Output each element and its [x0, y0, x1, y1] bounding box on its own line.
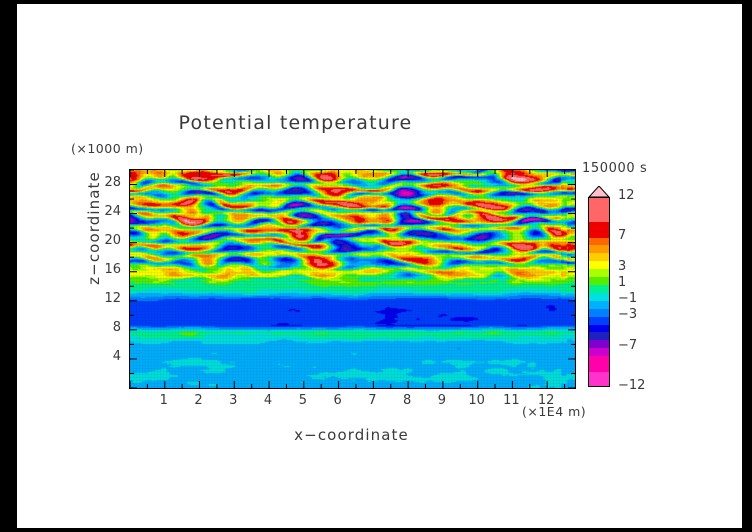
colorbar-tick-label: 1: [618, 275, 626, 290]
y-axis-title: z−coordinate: [85, 148, 103, 308]
plot-area: [129, 169, 576, 389]
colorbar-band: [589, 317, 609, 325]
timestamp-label: 150000 s: [582, 161, 647, 176]
figure-canvas: Potential temperature (×1000 m) 150000 s…: [17, 4, 742, 528]
colorbar-band: [589, 332, 609, 340]
colorbar: 12731−1−3−7−12: [588, 197, 610, 387]
colorbar-band: [589, 198, 609, 222]
colorbar-band: [589, 277, 609, 285]
colorbar-band: [589, 325, 609, 333]
colorbar-tick-label: −1: [618, 291, 637, 306]
colorbar-band: [589, 253, 609, 261]
colorbar-band: [589, 245, 609, 253]
y-tick-label: 4: [83, 349, 121, 364]
colorbar-band: [589, 372, 609, 387]
colorbar-band: [589, 285, 609, 293]
colorbar-band: [589, 309, 609, 317]
colorbar-band: [589, 348, 609, 356]
page-title: Potential temperature: [17, 112, 574, 134]
colorbar-band: [589, 222, 609, 238]
y-axis-unit-label: (×1000 m): [71, 141, 144, 156]
colorbar-band: [589, 269, 609, 277]
colorbar-band: [589, 261, 609, 269]
x-axis-title: x−coordinate: [129, 426, 574, 444]
y-tick-label: 8: [83, 320, 121, 335]
colorbar-tick-label: 7: [618, 228, 626, 243]
colorbar-tick-label: −3: [618, 307, 637, 322]
figure-window: Potential temperature (×1000 m) 150000 s…: [0, 0, 752, 532]
colorbar-band: [589, 356, 609, 372]
colorbar-band: [589, 340, 609, 348]
heatmap-field: [130, 170, 575, 388]
colorbar-band: [589, 301, 609, 309]
colorbar-tick-label: −12: [618, 378, 645, 393]
x-axis-unit-label: (×1E4 m): [522, 404, 586, 419]
colorbar-tick-label: 12: [618, 188, 635, 203]
colorbar-band: [589, 238, 609, 246]
colorbar-tick-label: −7: [618, 338, 637, 353]
colorbar-bands: [588, 197, 610, 387]
colorbar-band: [589, 293, 609, 301]
colorbar-tick-label: 3: [618, 259, 626, 274]
